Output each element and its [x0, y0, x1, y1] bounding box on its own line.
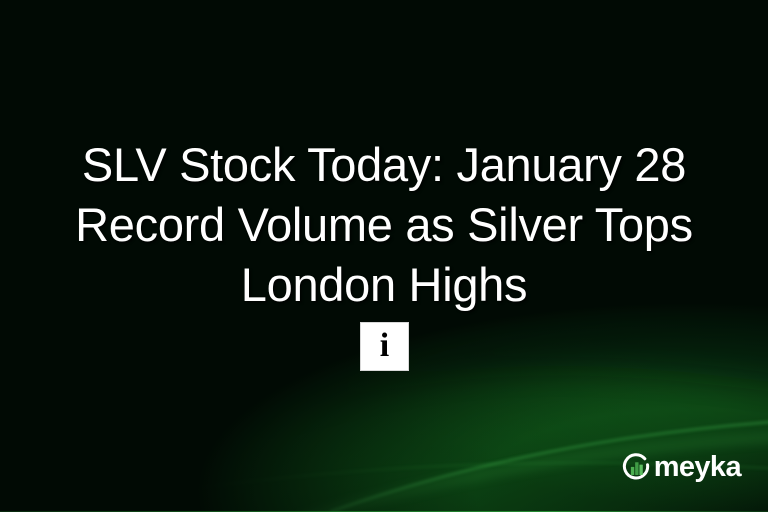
headline-line-2: Record Volume as Silver Tops — [28, 195, 740, 255]
brand-wordmark: meyka — [654, 452, 741, 483]
circular-bar-chart-logo-icon — [621, 452, 652, 483]
brand-logo: meyka — [621, 449, 741, 485]
headline: SLV Stock Today: January 28 Record Volum… — [0, 135, 768, 315]
info-glyph: i — [380, 329, 389, 363]
headline-line-3: London Highs — [28, 255, 740, 315]
broken-image-placeholder-icon: i — [360, 322, 409, 371]
headline-line-1: SLV Stock Today: January 28 — [28, 135, 740, 195]
social-share-card: SLV Stock Today: January 28 Record Volum… — [0, 0, 768, 512]
